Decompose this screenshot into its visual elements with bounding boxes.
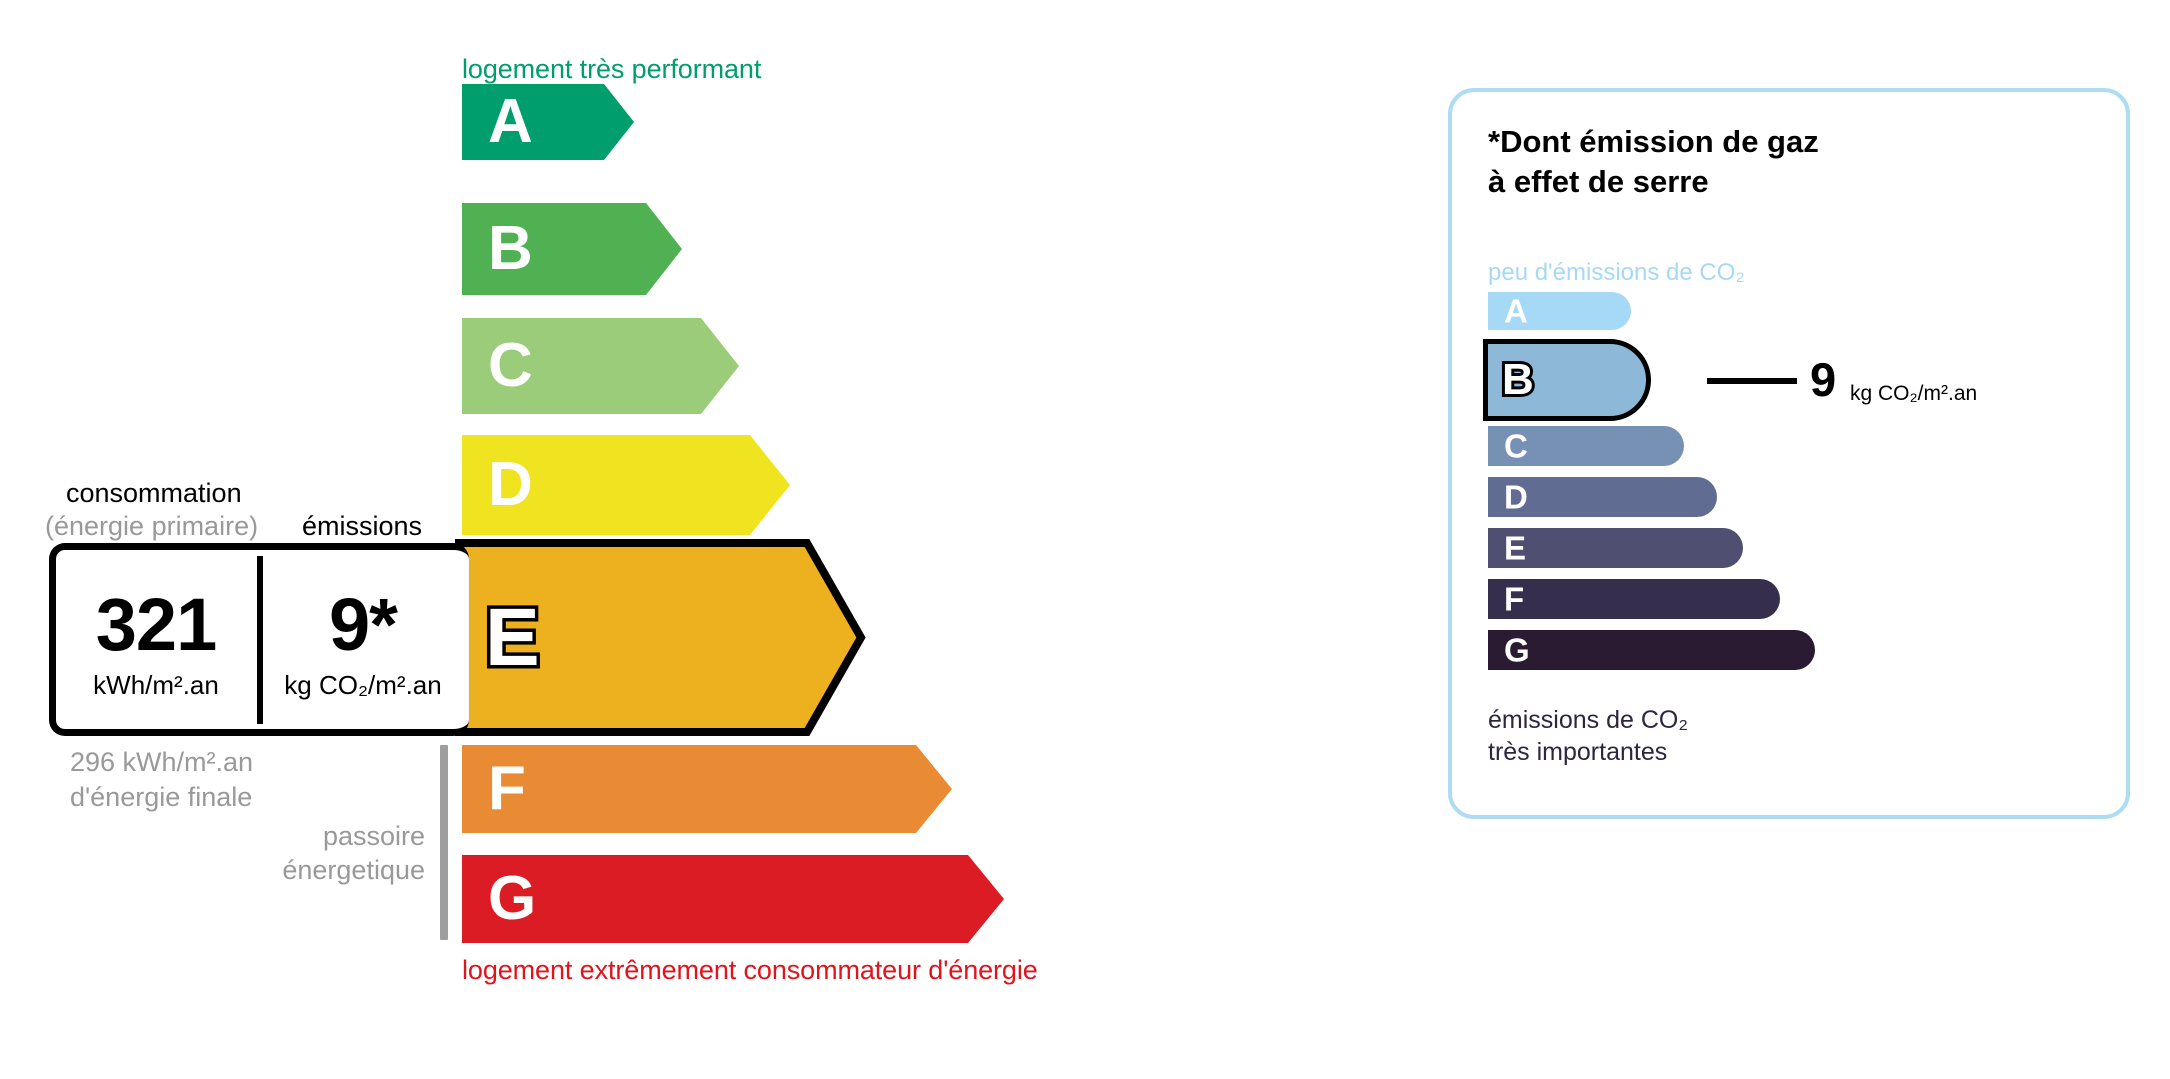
consumption-unit: kWh/m².an	[60, 670, 252, 701]
co2-letter-e: E	[1504, 532, 1526, 565]
energy-bar-g: G	[462, 855, 1004, 943]
co2-bar-f: F	[1488, 579, 1780, 619]
co2-emissions-panel: *Dont émission de gaz à effet de serre p…	[1448, 88, 2130, 819]
co2-letter-d: D	[1504, 481, 1528, 514]
co2-bar-d: D	[1488, 477, 1717, 517]
co2-bar-a: A	[1488, 292, 1631, 330]
passoire-indicator-bar	[440, 745, 448, 940]
energy-bar-b: B	[462, 203, 682, 295]
energy-bar-a: A	[462, 84, 634, 160]
co2-letter-g: G	[1504, 634, 1530, 667]
co2-bar-b-selected: B	[1483, 339, 1651, 421]
energy-bar-c: C	[462, 318, 739, 414]
energy-letter-c: C	[488, 335, 533, 397]
co2-bottom-note: émissions de CO₂ très importantes	[1488, 704, 1688, 768]
energy-letter-f: F	[488, 758, 526, 820]
energy-arrow-shape-f	[462, 745, 952, 833]
energy-top-label: logement très performant	[462, 54, 761, 85]
co2-bar-g: G	[1488, 630, 1815, 670]
energy-bar-e-selected: E	[455, 539, 867, 736]
emission-value: 9*	[268, 588, 458, 662]
consumption-metric: 321 kWh/m².an	[60, 588, 252, 701]
co2-value-unit: kg CO₂/m².an	[1850, 382, 1977, 406]
co2-letter-b: B	[1502, 358, 1534, 402]
energy-performance-chart: logement très performant A B C	[0, 0, 1400, 1079]
energy-arrow-shape-g	[462, 855, 1004, 943]
final-energy-note: 296 kWh/m².an d'énergie finale	[70, 745, 253, 814]
co2-letter-a: A	[1504, 295, 1528, 328]
emission-unit: kg CO₂/m².an	[268, 670, 458, 701]
label-emissions: émissions	[302, 511, 422, 542]
co2-letter-c: C	[1504, 430, 1528, 463]
co2-panel-title: *Dont émission de gaz à effet de serre	[1488, 122, 1819, 203]
energy-letter-b: B	[488, 218, 533, 280]
energy-bottom-label: logement extrêmement consommateur d'éner…	[462, 955, 1038, 986]
co2-value: 9	[1810, 356, 1836, 403]
energy-letter-e: E	[485, 597, 540, 679]
co2-leader-line	[1707, 378, 1797, 384]
energy-letter-g: G	[488, 868, 536, 930]
co2-letter-f: F	[1504, 583, 1524, 616]
label-consommation: consommation	[66, 478, 242, 509]
value-box-divider	[257, 556, 263, 724]
label-energie-primaire: (énergie primaire)	[45, 511, 258, 542]
co2-bar-e: E	[1488, 528, 1743, 568]
passoire-energetique-note: passoire énergetique	[180, 820, 425, 888]
co2-top-note: peu d'émissions de CO₂	[1488, 259, 1745, 287]
co2-bar-c: C	[1488, 426, 1684, 466]
consumption-value: 321	[60, 588, 252, 662]
energy-bar-d: D	[462, 435, 790, 535]
emission-metric: 9* kg CO₂/m².an	[268, 588, 458, 701]
energy-letter-a: A	[488, 91, 533, 153]
energy-bar-f: F	[462, 745, 952, 833]
energy-letter-d: D	[488, 454, 533, 516]
